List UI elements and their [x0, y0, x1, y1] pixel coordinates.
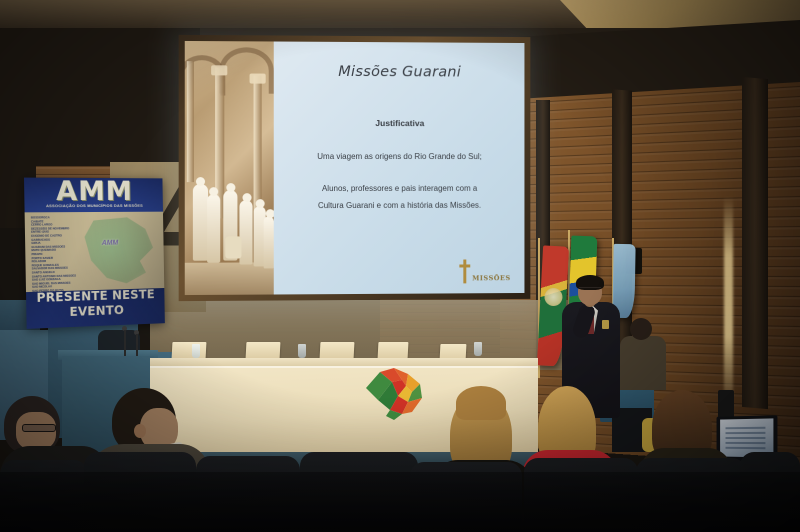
glasses-icon: [579, 287, 601, 291]
projection-screen-frame: Missões Guarani Justificativa Uma viagem…: [179, 35, 531, 301]
slide-line-2: Alunos, professores e pais interagem com…: [274, 184, 525, 193]
slide-line-1: Uma viagem as origens do Rio Grande do S…: [274, 152, 525, 161]
nameplate: [246, 342, 281, 359]
column-shape: [187, 61, 194, 182]
slide-logo: MISSÕES: [459, 259, 510, 283]
figure-head: [242, 193, 251, 202]
vertical-light-strip: [724, 196, 733, 396]
figure-shape: [264, 216, 274, 268]
amm-banner: AMM ASSOCIAÇÃO DOS MUNICÍPIOS DAS MISSÕE…: [24, 178, 165, 329]
laptop-screen-content: [726, 427, 766, 453]
figure-head: [266, 209, 274, 218]
slide-logo-text: MISSÕES: [472, 274, 510, 283]
water-glass: [192, 344, 200, 358]
torso: [620, 336, 666, 390]
projection-screen: Missões Guarani Justificativa Uma viagem…: [185, 41, 525, 295]
column-capital: [250, 74, 266, 84]
slide-line-3: Cultura Guarani e com a história das Mis…: [274, 201, 525, 210]
drum-shape: [225, 236, 241, 258]
banner-shading: [24, 178, 165, 329]
presenter-badge: [602, 320, 609, 329]
nameplate: [320, 342, 355, 359]
attendee-blonde-hair-top: [456, 386, 506, 420]
foreground-shadow: [0, 472, 800, 532]
attendee-ear: [134, 424, 146, 438]
arch-shape: [219, 47, 274, 94]
slide-photo: [185, 41, 274, 295]
photo-ground: [185, 262, 274, 295]
head: [630, 318, 652, 340]
glasses-icon: [22, 424, 56, 432]
nameplate: [378, 342, 409, 359]
water-glass: [474, 342, 482, 356]
slide-subtitle: Justificativa: [274, 118, 525, 129]
figure-shape: [207, 194, 220, 263]
microphone-stand: [124, 330, 126, 356]
slide-title: Missões Guarani: [274, 64, 525, 81]
figure-shape: [193, 184, 208, 261]
wall-column: [742, 77, 768, 409]
nameplate: [172, 342, 207, 359]
column-capital: [211, 65, 227, 75]
cross-icon: [459, 259, 470, 283]
famurs-polygon-mark-icon: [364, 366, 426, 422]
figure-head: [256, 199, 265, 208]
figure-head: [196, 177, 205, 186]
figure-head: [209, 187, 218, 196]
auditorium-photo: 40: [0, 0, 800, 532]
water-glass: [298, 344, 306, 358]
column-shape: [254, 76, 262, 217]
slide-text-area: Missões Guarani Justificativa Uma viagem…: [274, 41, 525, 294]
attendee-behind-speaker: [618, 318, 668, 388]
microphone-stand: [136, 334, 138, 356]
figure-head: [226, 183, 235, 192]
